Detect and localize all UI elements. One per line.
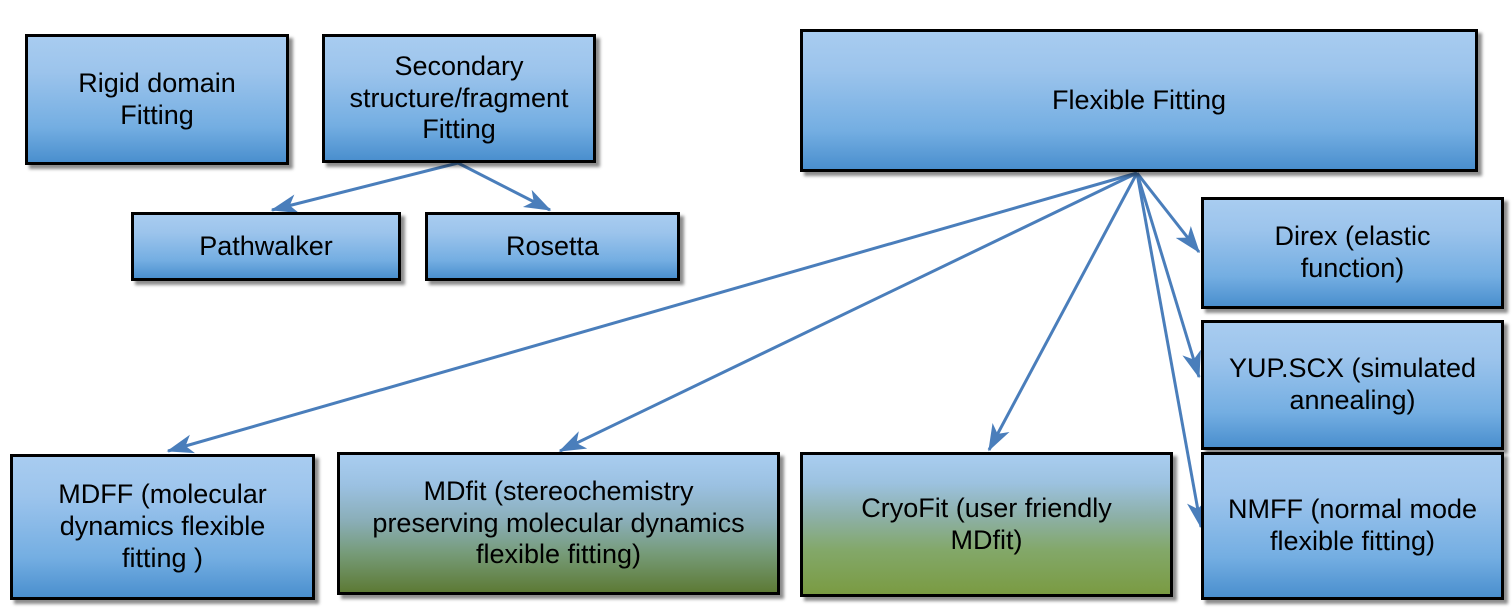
diagram-canvas: Rigid domain Fitting Secondary structure… xyxy=(0,0,1512,610)
node-cryofit[interactable]: CryoFit (user friendly MDfit) xyxy=(800,452,1173,597)
node-label: Pathwalker xyxy=(142,231,390,263)
edge-secondary-to-pathwalker xyxy=(272,163,458,210)
node-label: Rosetta xyxy=(436,231,669,263)
node-flexible-fitting[interactable]: Flexible Fitting xyxy=(800,29,1478,172)
node-label: MDfit (stereochemistry preserving molecu… xyxy=(348,476,769,572)
edge-flexible-to-yupscx xyxy=(1137,173,1199,377)
node-mdff[interactable]: MDFF (molecular dynamics flexible fittin… xyxy=(10,454,315,600)
node-rosetta[interactable]: Rosetta xyxy=(425,212,680,281)
node-label: YUP.SCX (simulated annealing) xyxy=(1212,353,1493,417)
node-label: Rigid domain Fitting xyxy=(36,68,278,132)
node-rigid-domain-fitting[interactable]: Rigid domain Fitting xyxy=(25,34,289,165)
node-label: Secondary structure/fragment Fitting xyxy=(333,51,585,147)
node-label: Flexible Fitting xyxy=(811,85,1467,117)
edge-flexible-to-direx xyxy=(1137,173,1199,252)
node-nmff[interactable]: NMFF (normal mode flexible fitting) xyxy=(1201,452,1504,600)
node-label: CryoFit (user friendly MDfit) xyxy=(811,493,1162,557)
node-pathwalker[interactable]: Pathwalker xyxy=(131,212,401,281)
node-direx[interactable]: Direx (elastic function) xyxy=(1201,197,1504,309)
node-mdfit[interactable]: MDfit (stereochemistry preserving molecu… xyxy=(337,452,780,595)
node-yupscx[interactable]: YUP.SCX (simulated annealing) xyxy=(1201,320,1504,450)
node-label: MDFF (molecular dynamics flexible fittin… xyxy=(21,479,304,575)
node-label: Direx (elastic function) xyxy=(1212,221,1493,285)
node-label: NMFF (normal mode flexible fitting) xyxy=(1212,494,1493,558)
edge-secondary-to-rosetta xyxy=(458,163,550,210)
node-secondary-structure-fitting[interactable]: Secondary structure/fragment Fitting xyxy=(322,34,596,163)
edge-flexible-to-cryofit xyxy=(989,173,1137,450)
